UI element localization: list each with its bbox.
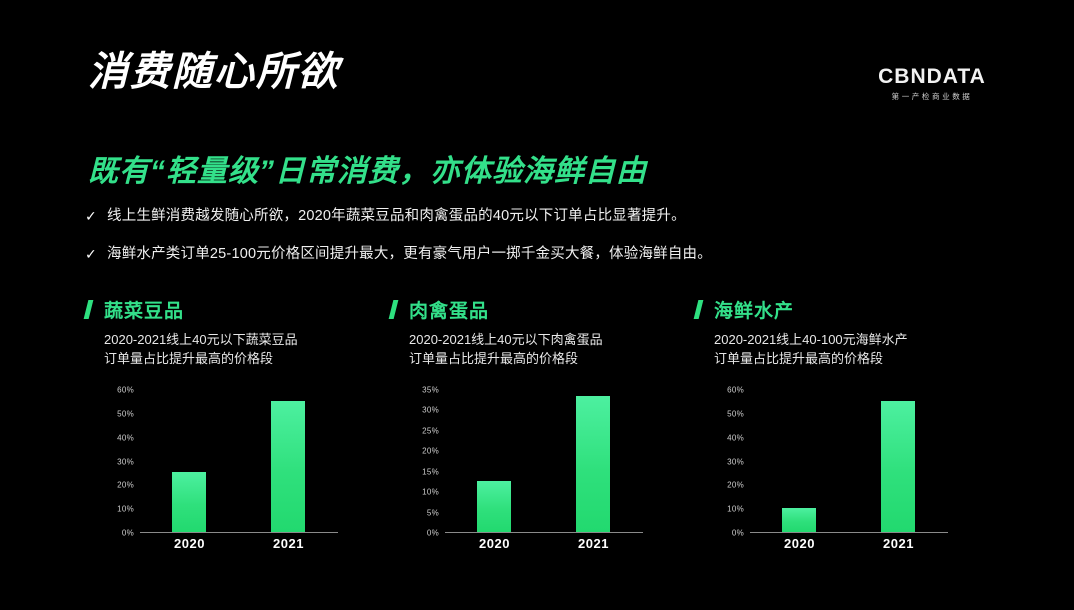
panel-description-line1: 2020-2021线上40元以下肉禽蛋品	[409, 330, 696, 349]
bar-chart-seafood: 0%10%20%30%40%50%60% 20202021	[718, 388, 948, 548]
x-axis-labels: 20202021	[140, 536, 338, 551]
y-axis-tick: 20%	[117, 481, 134, 490]
y-axis-tick: 10%	[422, 488, 439, 497]
plot-region	[445, 388, 643, 533]
slash-icon	[84, 300, 94, 319]
y-axis-tick: 10%	[117, 505, 134, 514]
panel-description-line1: 2020-2021线上40元以下蔬菜豆品	[104, 330, 391, 349]
panel-description: 2020-2021线上40-100元海鲜水产 订单量占比提升最高的价格段	[714, 330, 1001, 368]
panel-description: 2020-2021线上40元以下蔬菜豆品 订单量占比提升最高的价格段	[104, 330, 391, 368]
check-icon: ✓	[85, 205, 107, 227]
x-axis-line	[140, 532, 338, 533]
y-axis-tick: 60%	[117, 386, 134, 395]
page-title: 消费随心所欲	[88, 48, 340, 96]
bar-chart-meat-eggs: 0%5%10%15%20%25%30%35% 20202021	[413, 388, 643, 548]
check-icon: ✓	[85, 243, 107, 265]
slash-icon	[389, 300, 399, 319]
panel-seafood: 海鲜水产 2020-2021线上40-100元海鲜水产 订单量占比提升最高的价格…	[696, 296, 1001, 566]
panel-title: 蔬菜豆品	[104, 296, 184, 323]
bar-column	[157, 389, 222, 532]
list-item: ✓ 海鲜水产类订单25-100元价格区间提升最大，更有豪气用户一掷千金买大餐，体…	[85, 243, 1015, 265]
logo-tagline: 第一产检商业数据	[872, 91, 992, 102]
y-axis-tick: 30%	[422, 406, 439, 415]
x-axis-labels: 20202021	[445, 536, 643, 551]
bar-column	[462, 389, 527, 532]
bar	[782, 508, 816, 532]
bullet-text: 线上生鲜消费越发随心所欲，2020年蔬菜豆品和肉禽蛋品的40元以下订单占比显著提…	[107, 205, 686, 227]
y-axis-tick: 35%	[422, 386, 439, 395]
bar-group	[750, 389, 948, 532]
bar-column	[866, 389, 931, 532]
bar-group	[445, 389, 643, 532]
bar-column	[256, 389, 321, 532]
y-axis-tick: 20%	[422, 447, 439, 456]
logo-wordmark: CBNDATA	[872, 66, 992, 88]
y-axis-tick: 50%	[117, 409, 134, 418]
bar	[576, 396, 610, 532]
x-axis-label: 2021	[866, 536, 931, 551]
bullet-list: ✓ 线上生鲜消费越发随心所欲，2020年蔬菜豆品和肉禽蛋品的40元以下订单占比显…	[85, 205, 1015, 281]
slash-icon	[694, 300, 704, 319]
bar	[271, 401, 305, 532]
x-axis-line	[750, 532, 948, 533]
chart-plot-area: 0%5%10%15%20%25%30%35%	[413, 388, 643, 533]
bar-column	[767, 389, 832, 532]
panel-description-line2: 订单量占比提升最高的价格段	[409, 349, 696, 368]
x-axis-line	[445, 532, 643, 533]
x-axis-label: 2021	[256, 536, 321, 551]
panel-description-line2: 订单量占比提升最高的价格段	[714, 349, 1001, 368]
panel-title: 肉禽蛋品	[409, 296, 489, 323]
panel-vegetables: 蔬菜豆品 2020-2021线上40元以下蔬菜豆品 订单量占比提升最高的价格段 …	[86, 296, 391, 566]
y-axis-tick: 0%	[122, 529, 134, 538]
section-subtitle: 既有“轻量级”日常消费，亦体验海鲜自由	[88, 146, 647, 190]
x-axis-labels: 20202021	[750, 536, 948, 551]
panel-group: 蔬菜豆品 2020-2021线上40元以下蔬菜豆品 订单量占比提升最高的价格段 …	[86, 296, 1002, 566]
panel-header: 肉禽蛋品	[391, 296, 696, 322]
x-axis-label: 2021	[561, 536, 626, 551]
chart-plot-area: 0%10%20%30%40%50%60%	[108, 388, 338, 533]
list-item: ✓ 线上生鲜消费越发随心所欲，2020年蔬菜豆品和肉禽蛋品的40元以下订单占比显…	[85, 205, 1015, 227]
y-axis-tick: 15%	[422, 467, 439, 476]
y-axis-tick: 40%	[727, 433, 744, 442]
y-axis: 0%5%10%15%20%25%30%35%	[413, 388, 443, 533]
y-axis: 0%10%20%30%40%50%60%	[718, 388, 748, 533]
x-axis-label: 2020	[462, 536, 527, 551]
y-axis-tick: 10%	[727, 505, 744, 514]
cbndata-logo: CBNDATA 第一产检商业数据	[872, 66, 992, 102]
bar	[881, 401, 915, 532]
y-axis-tick: 0%	[427, 529, 439, 538]
x-axis-label: 2020	[157, 536, 222, 551]
y-axis-tick: 30%	[727, 457, 744, 466]
bar-chart-vegetables: 0%10%20%30%40%50%60% 20202021	[108, 388, 338, 548]
panel-meat-eggs: 肉禽蛋品 2020-2021线上40元以下肉禽蛋品 订单量占比提升最高的价格段 …	[391, 296, 696, 566]
plot-region	[750, 388, 948, 533]
y-axis-tick: 20%	[727, 481, 744, 490]
bar	[477, 481, 511, 531]
y-axis-tick: 50%	[727, 409, 744, 418]
y-axis-tick: 60%	[727, 386, 744, 395]
panel-description: 2020-2021线上40元以下肉禽蛋品 订单量占比提升最高的价格段	[409, 330, 696, 368]
chart-plot-area: 0%10%20%30%40%50%60%	[718, 388, 948, 533]
y-axis-tick: 5%	[427, 508, 439, 517]
bar	[172, 472, 206, 532]
panel-description-line2: 订单量占比提升最高的价格段	[104, 349, 391, 368]
panel-header: 海鲜水产	[696, 296, 1001, 322]
bar-group	[140, 389, 338, 532]
y-axis-tick: 30%	[117, 457, 134, 466]
y-axis-tick: 0%	[732, 529, 744, 538]
bar-column	[561, 389, 626, 532]
y-axis: 0%10%20%30%40%50%60%	[108, 388, 138, 533]
panel-description-line1: 2020-2021线上40-100元海鲜水产	[714, 330, 1001, 349]
plot-region	[140, 388, 338, 533]
y-axis-tick: 40%	[117, 433, 134, 442]
panel-title: 海鲜水产	[714, 296, 794, 323]
bullet-text: 海鲜水产类订单25-100元价格区间提升最大，更有豪气用户一掷千金买大餐，体验海…	[107, 243, 712, 265]
x-axis-label: 2020	[767, 536, 832, 551]
y-axis-tick: 25%	[422, 426, 439, 435]
slide-root: 消费随心所欲 CBNDATA 第一产检商业数据 既有“轻量级”日常消费，亦体验海…	[0, 0, 1074, 610]
panel-header: 蔬菜豆品	[86, 296, 391, 322]
